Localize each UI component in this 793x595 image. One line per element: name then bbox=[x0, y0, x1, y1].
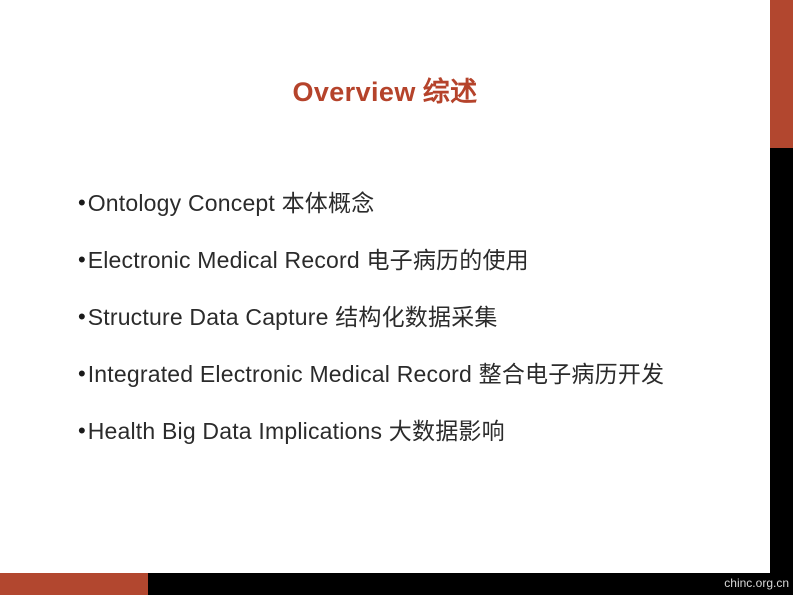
list-item: • Health Big Data Implications 大数据影响 bbox=[78, 416, 728, 473]
bullet-point-icon: • bbox=[78, 303, 86, 331]
bullet-list: • Ontology Concept 本体概念 • Electronic Med… bbox=[78, 188, 728, 473]
bullet-point-icon: • bbox=[78, 189, 86, 217]
list-item-label: Health Big Data Implications 大数据影响 bbox=[88, 416, 505, 446]
list-item-label: Structure Data Capture 结构化数据采集 bbox=[88, 302, 498, 332]
right-edge-accent-bar bbox=[770, 0, 793, 148]
list-item: • Integrated Electronic Medical Record 整… bbox=[78, 359, 728, 416]
footer-watermark: chinc.org.cn bbox=[724, 576, 789, 590]
footer-accent-block bbox=[0, 573, 148, 595]
footer-strip: chinc.org.cn bbox=[0, 573, 793, 595]
list-item: • Ontology Concept 本体概念 bbox=[78, 188, 728, 245]
page-title: Overview综述 bbox=[0, 70, 770, 109]
list-item: • Electronic Medical Record 电子病历的使用 bbox=[78, 245, 728, 302]
right-edge-dark-bar bbox=[770, 148, 793, 573]
list-item-label: Ontology Concept 本体概念 bbox=[88, 188, 375, 218]
list-item: • Structure Data Capture 结构化数据采集 bbox=[78, 302, 728, 359]
slide-canvas: Overview综述 • Ontology Concept 本体概念 • Ele… bbox=[0, 0, 793, 595]
bullet-point-icon: • bbox=[78, 246, 86, 274]
footer-dark-block: chinc.org.cn bbox=[148, 573, 793, 595]
bullet-point-icon: • bbox=[78, 360, 86, 388]
bullet-point-icon: • bbox=[78, 417, 86, 445]
list-item-label: Electronic Medical Record 电子病历的使用 bbox=[88, 245, 529, 275]
page-title-chinese: 综述 bbox=[423, 77, 478, 107]
list-item-label: Integrated Electronic Medical Record 整合电… bbox=[88, 359, 665, 389]
page-title-english: Overview bbox=[292, 77, 415, 107]
